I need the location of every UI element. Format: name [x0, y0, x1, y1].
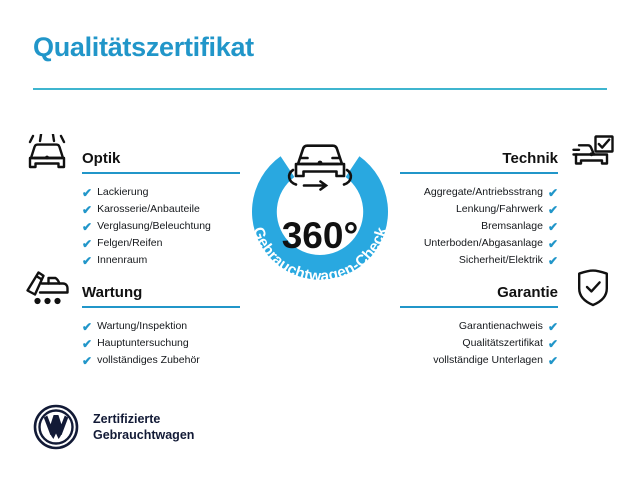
check-icon: ✔ [82, 338, 92, 350]
list-item-label: Karosserie/Anbauteile [97, 201, 200, 218]
list-item: ✔Karosserie/Anbauteile [82, 201, 240, 218]
list-item: ✔Wartung/Inspektion [82, 318, 240, 335]
car-front-checkbox-icon [570, 132, 616, 174]
list-item-label: Verglasung/Beleuchtung [97, 218, 211, 235]
checklist-optik: ✔Lackierung ✔Karosserie/Anbauteile ✔Verg… [24, 184, 240, 269]
list-item-label: Lenkung/Fahrwerk [456, 201, 543, 218]
list-item-label: Bremsanlage [481, 218, 543, 235]
list-item: ✔Felgen/Reifen [82, 235, 240, 252]
list-item-label: Unterboden/Abgasanlage [424, 235, 543, 252]
check-icon: ✔ [82, 204, 92, 216]
footer-line-2: Gebrauchtwagen [93, 427, 194, 443]
car-360-rotate-icon [289, 146, 351, 190]
list-item-label: vollständige Unterlagen [433, 352, 543, 369]
section-divider-optik [82, 172, 240, 174]
section-optik: Optik ✔Lackierung ✔Karosserie/Anbauteile… [24, 128, 240, 269]
section-title-optik: Optik [82, 150, 240, 168]
footer-text: Zertifizierte Gebrauchtwagen [93, 411, 194, 443]
section-wartung: Wartung ✔Wartung/Inspektion ✔Hauptunters… [24, 262, 240, 369]
list-item: vollständige Unterlagen✔ [400, 352, 558, 369]
check-icon: ✔ [82, 355, 92, 367]
list-item-label: Hauptuntersuchung [97, 335, 189, 352]
list-item: Qualitätszertifikat✔ [400, 335, 558, 352]
list-item: Unterboden/Abgasanlage✔ [400, 235, 558, 252]
section-technik: Technik Aggregate/Antriebsstrang✔ Lenkun… [400, 128, 616, 269]
page-title: Qualitätszertifikat [33, 32, 254, 63]
check-icon: ✔ [548, 338, 558, 350]
section-divider-garantie [400, 306, 558, 308]
check-icon: ✔ [548, 355, 558, 367]
list-item-label: Garantienachweis [459, 318, 543, 335]
check-icon: ✔ [548, 187, 558, 199]
title-divider [33, 88, 607, 90]
360-check-badge: Gebrauchtwagen-Check 360° [228, 120, 412, 304]
checklist-technik: Aggregate/Antriebsstrang✔ Lenkung/Fahrwe… [400, 184, 616, 269]
section-title-wartung: Wartung [82, 284, 240, 302]
list-item: Aggregate/Antriebsstrang✔ [400, 184, 558, 201]
section-garantie: Garantie Garantienachweis✔ Qualitätszert… [400, 262, 616, 369]
list-item: ✔Verglasung/Beleuchtung [82, 218, 240, 235]
list-item: Lenkung/Fahrwerk✔ [400, 201, 558, 218]
list-item: ✔Hauptuntersuchung [82, 335, 240, 352]
checklist-wartung: ✔Wartung/Inspektion ✔Hauptuntersuchung ✔… [24, 318, 240, 369]
section-title-technik: Technik [400, 150, 558, 168]
check-icon: ✔ [82, 238, 92, 250]
check-icon: ✔ [548, 204, 558, 216]
list-item: Bremsanlage✔ [400, 218, 558, 235]
list-item: ✔vollständiges Zubehör [82, 352, 240, 369]
list-item: ✔Lackierung [82, 184, 240, 201]
check-icon: ✔ [82, 221, 92, 233]
list-item-label: Wartung/Inspektion [97, 318, 187, 335]
check-icon: ✔ [548, 238, 558, 250]
check-icon: ✔ [82, 321, 92, 333]
check-icon: ✔ [548, 321, 558, 333]
check-icon: ✔ [548, 221, 558, 233]
list-item-label: Qualitätszertifikat [462, 335, 543, 352]
badge-center-label: 360° [282, 215, 359, 256]
list-item-label: vollständiges Zubehör [97, 352, 200, 369]
section-divider-technik [400, 172, 558, 174]
volkswagen-logo [33, 404, 79, 450]
list-item-label: Aggregate/Antriebsstrang [424, 184, 543, 201]
footer-brand: Zertifizierte Gebrauchtwagen [33, 404, 194, 450]
car-front-shine-icon [24, 132, 70, 174]
check-icon: ✔ [82, 187, 92, 199]
shield-check-icon [570, 266, 616, 308]
list-item-label: Lackierung [97, 184, 148, 201]
list-item: Garantienachweis✔ [400, 318, 558, 335]
wrench-car-icon [24, 266, 70, 308]
list-item-label: Felgen/Reifen [97, 235, 162, 252]
checklist-garantie: Garantienachweis✔ Qualitätszertifikat✔ v… [400, 318, 616, 369]
section-title-garantie: Garantie [400, 284, 558, 302]
footer-line-1: Zertifizierte [93, 411, 194, 427]
section-divider-wartung [82, 306, 240, 308]
